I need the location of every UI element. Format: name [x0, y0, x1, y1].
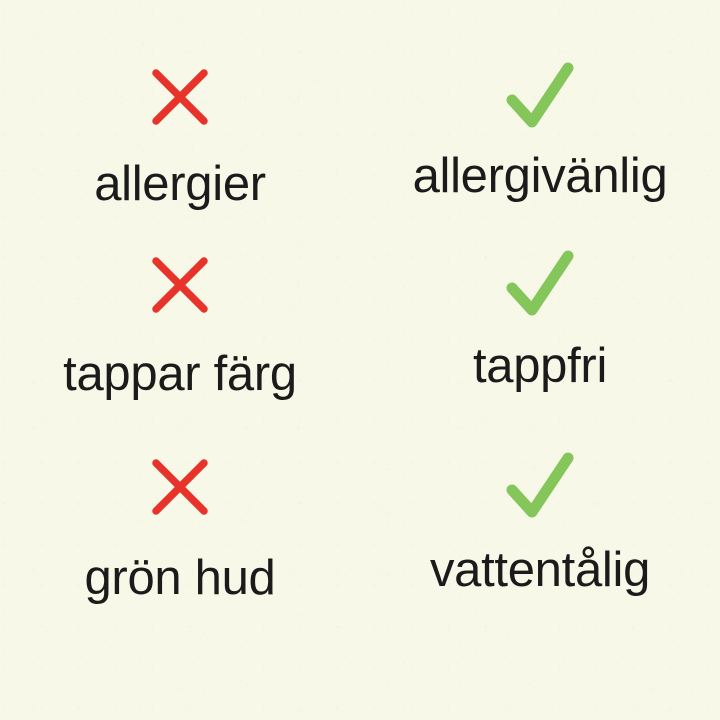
positive-label: allergivänlig [413, 152, 668, 201]
negative-cell: tappar färg [0, 248, 360, 413]
positive-label: vattentålig [430, 546, 650, 595]
positive-cell: vattentålig [360, 450, 720, 620]
comparison-poster: allergier allergivänlig [0, 0, 720, 720]
comparison-grid: allergier allergivänlig [0, 0, 720, 720]
positive-cell: tappfri [360, 248, 720, 413]
negative-label: tappar färg [63, 350, 297, 399]
cross-mark-icon [151, 450, 209, 540]
check-mark-icon [502, 248, 578, 330]
comparison-row: tappar färg tappfri [0, 248, 720, 413]
check-mark-icon [502, 450, 578, 532]
negative-cell: allergier [0, 60, 360, 225]
positive-cell: allergivänlig [360, 60, 720, 225]
negative-label: allergier [94, 160, 266, 209]
cross-mark-icon [151, 60, 209, 150]
cross-mark-icon [151, 248, 209, 338]
negative-cell: grön hud [0, 450, 360, 620]
check-mark-icon [502, 60, 578, 142]
negative-label: grön hud [84, 554, 275, 603]
positive-label: tappfri [473, 342, 607, 391]
comparison-row: grön hud vattentålig [0, 450, 720, 620]
comparison-row: allergier allergivänlig [0, 60, 720, 225]
